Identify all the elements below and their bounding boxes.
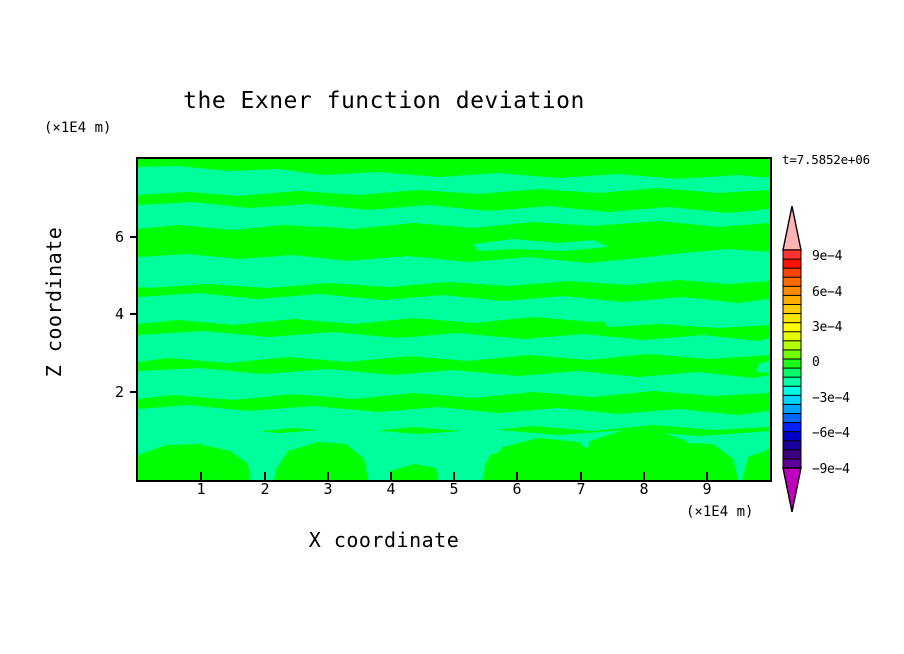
colorbar-gradient [779, 206, 805, 512]
x-axis-title: X coordinate [0, 528, 768, 552]
x-tick-5 [453, 472, 455, 480]
y-tick-6 [130, 236, 138, 238]
x-tick-label-7: 7 [569, 480, 593, 498]
y-tick-label-2: 2 [100, 383, 124, 401]
colorbar-label-0: 0 [812, 355, 820, 370]
x-tick-label-3: 3 [316, 480, 340, 498]
colorbar-label-neg3e-4: −3e−4 [812, 391, 850, 406]
x-tick-label-5: 5 [442, 480, 466, 498]
y-tick-2 [130, 391, 138, 393]
y-axis-unit-label: (×1E4 m) [44, 120, 111, 136]
y-tick-label-4: 4 [100, 305, 124, 323]
x-tick-3 [327, 472, 329, 480]
contour-plot-area [136, 157, 772, 482]
page-title: the Exner function deviation [0, 88, 768, 114]
colorbar-label-6e-4: 6e−4 [812, 285, 842, 300]
timestamp-annotation: t=7.5852e+06 [782, 152, 870, 167]
y-tick-4 [130, 313, 138, 315]
contour-field [138, 159, 770, 480]
x-tick-8 [643, 472, 645, 480]
x-tick-1 [200, 472, 202, 480]
colorbar-label-3e-4: 3e−4 [812, 320, 842, 335]
x-tick-4 [390, 472, 392, 480]
colorbar-label-9e-4: 9e−4 [812, 249, 842, 264]
x-axis-unit-label: (×1E4 m) [686, 504, 753, 520]
x-tick-label-2: 2 [253, 480, 277, 498]
x-tick-7 [580, 472, 582, 480]
x-tick-label-1: 1 [189, 480, 213, 498]
y-tick-label-6: 6 [100, 228, 124, 246]
x-tick-6 [516, 472, 518, 480]
y-axis-title: Z coordinate [42, 212, 66, 392]
x-tick-2 [264, 472, 266, 480]
figure-canvas: the Exner function deviation (×1E4 m) t=… [0, 0, 904, 654]
x-tick-label-6: 6 [505, 480, 529, 498]
x-tick-label-9: 9 [695, 480, 719, 498]
x-tick-label-8: 8 [632, 480, 656, 498]
colorbar-label-neg6e-4: −6e−4 [812, 426, 850, 441]
x-tick-label-4: 4 [379, 480, 403, 498]
colorbar [779, 206, 805, 512]
colorbar-label-neg9e-4: −9e−4 [812, 462, 850, 477]
x-tick-9 [706, 472, 708, 480]
